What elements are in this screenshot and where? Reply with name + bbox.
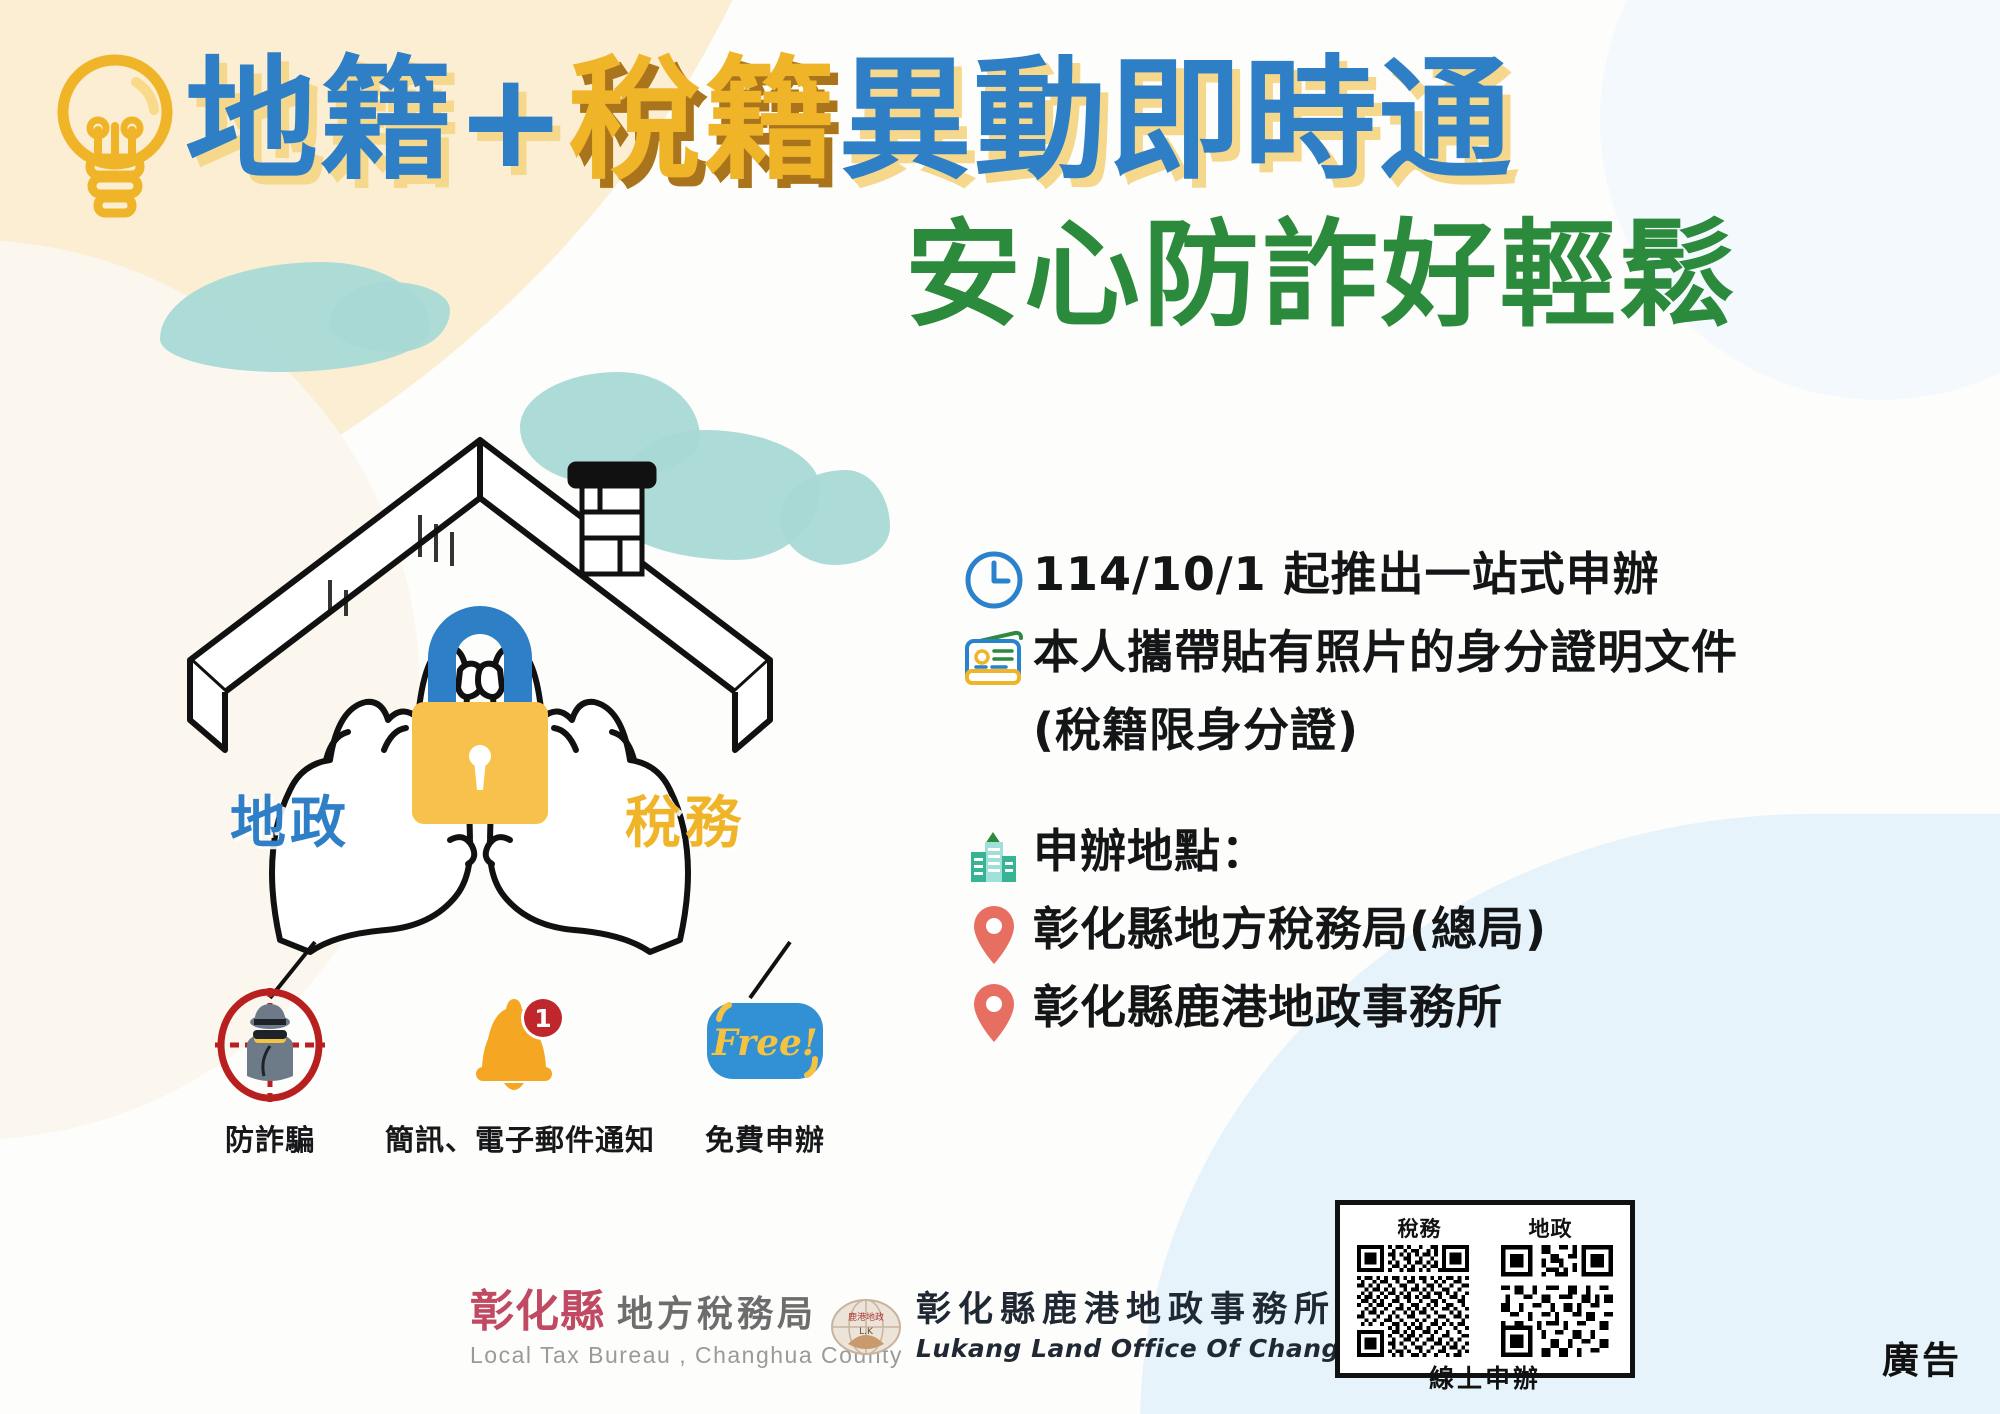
info-location-heading: 申辦地點： bbox=[1033, 822, 1268, 881]
headline-part-alert: 異動即時通 bbox=[838, 55, 1513, 188]
feature-label: 免費申辦 bbox=[640, 1117, 890, 1159]
map-pin-icon bbox=[955, 900, 1033, 970]
info-id-note: (稅籍限身分證) bbox=[1033, 701, 1965, 760]
free-badge-icon: Free! bbox=[640, 985, 890, 1105]
hands-holding-house-illustration bbox=[130, 420, 830, 980]
bell-notification-icon: 1 bbox=[385, 985, 635, 1105]
id-card-icon bbox=[955, 623, 1033, 693]
info-column: 114/10/1 起推出一站式申辦 本人攜帶貼有照片的身分證明文件 (稅籍限身分… bbox=[955, 545, 1965, 1056]
info-row-id: 本人攜帶貼有照片的身分證明文件 bbox=[955, 623, 1965, 693]
building-icon bbox=[955, 822, 1033, 892]
feature-free: Free! 免費申辦 bbox=[640, 985, 890, 1159]
info-row-location-1: 彰化縣地方稅務局(總局) bbox=[955, 900, 1965, 970]
svg-text:鹿港地政: 鹿港地政 bbox=[848, 1311, 884, 1323]
feature-notification: 1 簡訊、電子郵件通知 bbox=[385, 985, 635, 1159]
qr-panel[interactable]: 稅務 地政 bbox=[1335, 1200, 1635, 1378]
info-date-text: 114/10/1 起推出一站式申辦 bbox=[1033, 545, 1660, 604]
info-spacer bbox=[955, 760, 1965, 822]
qr-label-land: 地政 bbox=[1529, 1213, 1573, 1243]
clock-icon bbox=[955, 545, 1033, 615]
feature-row: 防詐騙 1 簡訊、電子郵件通知 bbox=[150, 985, 910, 1185]
headline-part-land: 地籍 bbox=[185, 55, 455, 188]
spy-target-icon bbox=[145, 985, 395, 1105]
map-pin-icon bbox=[955, 978, 1033, 1048]
svg-text:L.K: L.K bbox=[859, 1327, 874, 1337]
qr-labels: 稅務 地政 bbox=[1354, 1213, 1616, 1243]
padlock-icon bbox=[412, 606, 548, 824]
info-row-location-2: 彰化縣鹿港地政事務所 bbox=[955, 978, 1965, 1048]
poster-root: 地籍+稅籍異動即時通 安心防詐好輕鬆 bbox=[0, 0, 2000, 1414]
feature-label: 簡訊、電子郵件通知 bbox=[385, 1117, 635, 1159]
qr-code-land[interactable] bbox=[1498, 1245, 1616, 1357]
bell-badge-count: 1 bbox=[534, 1004, 551, 1033]
qr-code-tax[interactable] bbox=[1354, 1245, 1472, 1357]
info-location-text: 彰化縣鹿港地政事務所 bbox=[1033, 978, 1503, 1037]
info-location-text: 彰化縣地方稅務局(總局) bbox=[1033, 900, 1547, 959]
qr-label-tax: 稅務 bbox=[1398, 1213, 1442, 1243]
free-badge-text: Free! bbox=[711, 1022, 818, 1064]
headline-part-tax: 稅籍 bbox=[568, 55, 838, 188]
illustration-tag-tax: 稅務 bbox=[625, 778, 745, 859]
land-office-seal-icon: 鹿港地政 L.K bbox=[830, 1298, 902, 1356]
illustration-tag-land: 地政 bbox=[230, 778, 350, 859]
advertisement-tag: 廣告 bbox=[1882, 1330, 1962, 1384]
feature-anti-fraud: 防詐騙 bbox=[145, 985, 395, 1159]
headline: 地籍+稅籍異動即時通 bbox=[185, 55, 1985, 225]
info-row-date: 114/10/1 起推出一站式申辦 bbox=[955, 545, 1965, 615]
subheadline: 安心防詐好輕鬆 bbox=[905, 218, 1738, 334]
headline-plus: + bbox=[455, 55, 568, 188]
logo-tax-script: 彰化縣 bbox=[470, 1290, 605, 1334]
lightbulb-icon bbox=[40, 40, 190, 230]
info-id-text: 本人攜帶貼有照片的身分證明文件 bbox=[1033, 623, 1738, 682]
logo-tax-name: 地方稅務局 bbox=[617, 1297, 817, 1333]
info-row-location-heading: 申辦地點： bbox=[955, 822, 1965, 892]
feature-label: 防詐騙 bbox=[145, 1117, 395, 1159]
qr-caption: 線上申辦 bbox=[1354, 1359, 1616, 1395]
